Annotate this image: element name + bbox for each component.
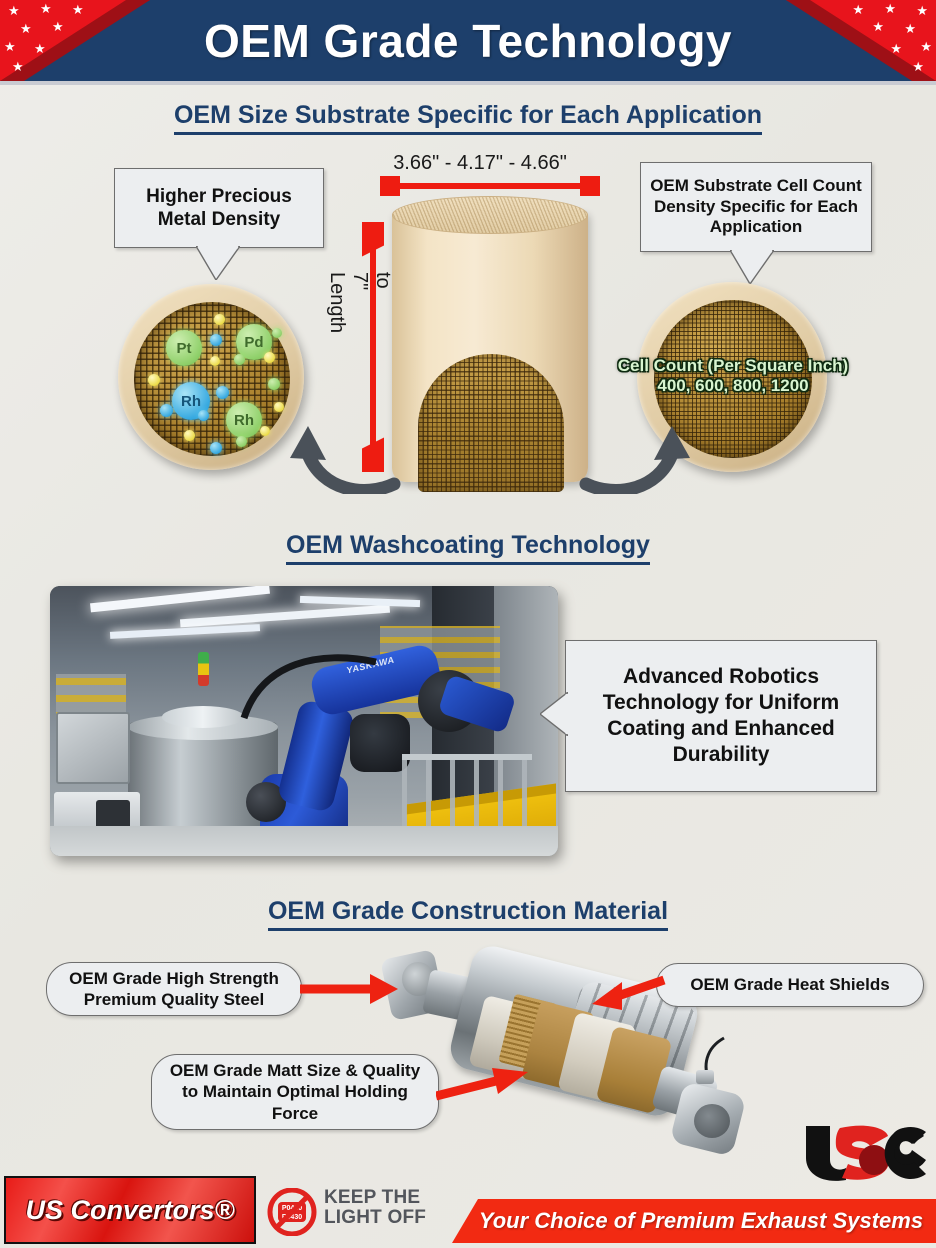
callout-tail-right-icon	[730, 250, 774, 284]
keep-light-line1: KEEP THE	[324, 1188, 426, 1208]
particle-small	[264, 352, 275, 363]
arrow-matt-icon	[436, 1062, 532, 1106]
particle-small	[184, 430, 195, 441]
callout-precious-metal-density-text: Higher Precious Metal Density	[123, 185, 315, 232]
header-divider	[0, 81, 936, 85]
cell-count-overlay: Cell Count (Per Square Inch) 400, 600, 8…	[600, 356, 866, 396]
particle-small	[272, 328, 282, 338]
arrow-heat-shields-icon	[588, 970, 668, 1010]
callout-matt-size: OEM Grade Matt Size & Quality to Maintai…	[151, 1054, 439, 1130]
particle-small	[274, 402, 284, 412]
section-heading-construction-text: OEM Grade Construction Material	[268, 897, 668, 931]
connector-arrow-right-icon	[578, 398, 694, 494]
usc-logo	[800, 1122, 930, 1184]
particle-small	[210, 334, 222, 346]
particle-small	[210, 442, 222, 454]
particle-pt: Pt	[166, 330, 202, 366]
cell-count-title: Cell Count (Per Square Inch)	[600, 356, 866, 376]
callout-tail-robotics-icon	[540, 692, 568, 736]
substrate-cylinder	[392, 196, 588, 496]
tagline-banner: Your Choice of Premium Exhaust Systems	[452, 1199, 936, 1243]
connector-arrow-left-icon	[286, 398, 402, 494]
page-header: ★ ★ ★ ★ ★ ★ ★ ★ ★ ★ ★ ★ ★ ★ ★ ★ OEM Grad…	[0, 0, 936, 81]
section-heading-substrate-text: OEM Size Substrate Specific for Each App…	[174, 101, 762, 135]
callout-heat-shields-text: OEM Grade Heat Shields	[690, 974, 889, 995]
section-heading-substrate: OEM Size Substrate Specific for Each App…	[0, 101, 936, 130]
callout-matt-size-text: OEM Grade Matt Size & Quality to Maintai…	[164, 1060, 426, 1124]
callout-premium-steel: OEM Grade High Strength Premium Quality …	[46, 962, 302, 1016]
us-convertors-logo-text: US Convertors®	[26, 1195, 235, 1226]
callout-advanced-robotics: Advanced Robotics Technology for Uniform…	[565, 640, 877, 792]
callout-advanced-robotics-text: Advanced Robotics Technology for Uniform…	[578, 664, 864, 767]
keep-light-off-badge: P0420 P0430 KEEP THE LIGHT OFF	[266, 1186, 446, 1238]
tagline-text: Your Choice of Premium Exhaust Systems	[465, 1208, 923, 1234]
particle-small	[236, 436, 247, 447]
washcoating-photo: YASKAWA	[50, 586, 558, 856]
particle-small	[234, 354, 245, 365]
cell-count-values: 400, 600, 800, 1200	[600, 376, 866, 396]
us-convertors-logo: US Convertors®	[4, 1176, 256, 1244]
particle-small	[160, 404, 173, 417]
particle-small	[210, 356, 220, 366]
keep-light-off-text: KEEP THE LIGHT OFF	[324, 1188, 426, 1228]
section-heading-construction: OEM Grade Construction Material	[0, 897, 936, 926]
callout-cell-count-density: OEM Substrate Cell Count Density Specifi…	[640, 162, 872, 252]
callout-tail-left-icon	[196, 246, 240, 280]
callout-precious-metal-density: Higher Precious Metal Density	[114, 168, 324, 248]
diameter-label: 3.66" - 4.17" - 4.66"	[330, 152, 630, 175]
particle-rh-green: Rh	[226, 402, 262, 438]
no-check-engine-light-icon: P0420 P0430	[266, 1188, 318, 1236]
callout-premium-steel-text: OEM Grade High Strength Premium Quality …	[59, 968, 289, 1011]
keep-light-line2: LIGHT OFF	[324, 1208, 426, 1228]
section-heading-washcoating-text: OEM Washcoating Technology	[286, 531, 650, 565]
particle-small	[216, 386, 229, 399]
substrate-face-precious-metals: Pt Pd Rh Rh	[118, 284, 304, 470]
particle-small	[214, 314, 225, 325]
particle-small	[148, 374, 160, 386]
section-heading-washcoating: OEM Washcoating Technology	[0, 531, 936, 560]
diameter-arrow-icon	[380, 176, 600, 196]
callout-cell-count-density-text: OEM Substrate Cell Count Density Specifi…	[649, 176, 863, 239]
infographic-page: ★ ★ ★ ★ ★ ★ ★ ★ ★ ★ ★ ★ ★ ★ ★ ★ OEM Grad…	[0, 0, 936, 1248]
particle-small	[198, 410, 209, 421]
particle-small	[260, 426, 270, 436]
callout-heat-shields: OEM Grade Heat Shields	[656, 963, 924, 1007]
particle-small	[268, 378, 280, 390]
arrow-steel-icon	[300, 972, 400, 1006]
page-title: OEM Grade Technology	[0, 0, 936, 81]
